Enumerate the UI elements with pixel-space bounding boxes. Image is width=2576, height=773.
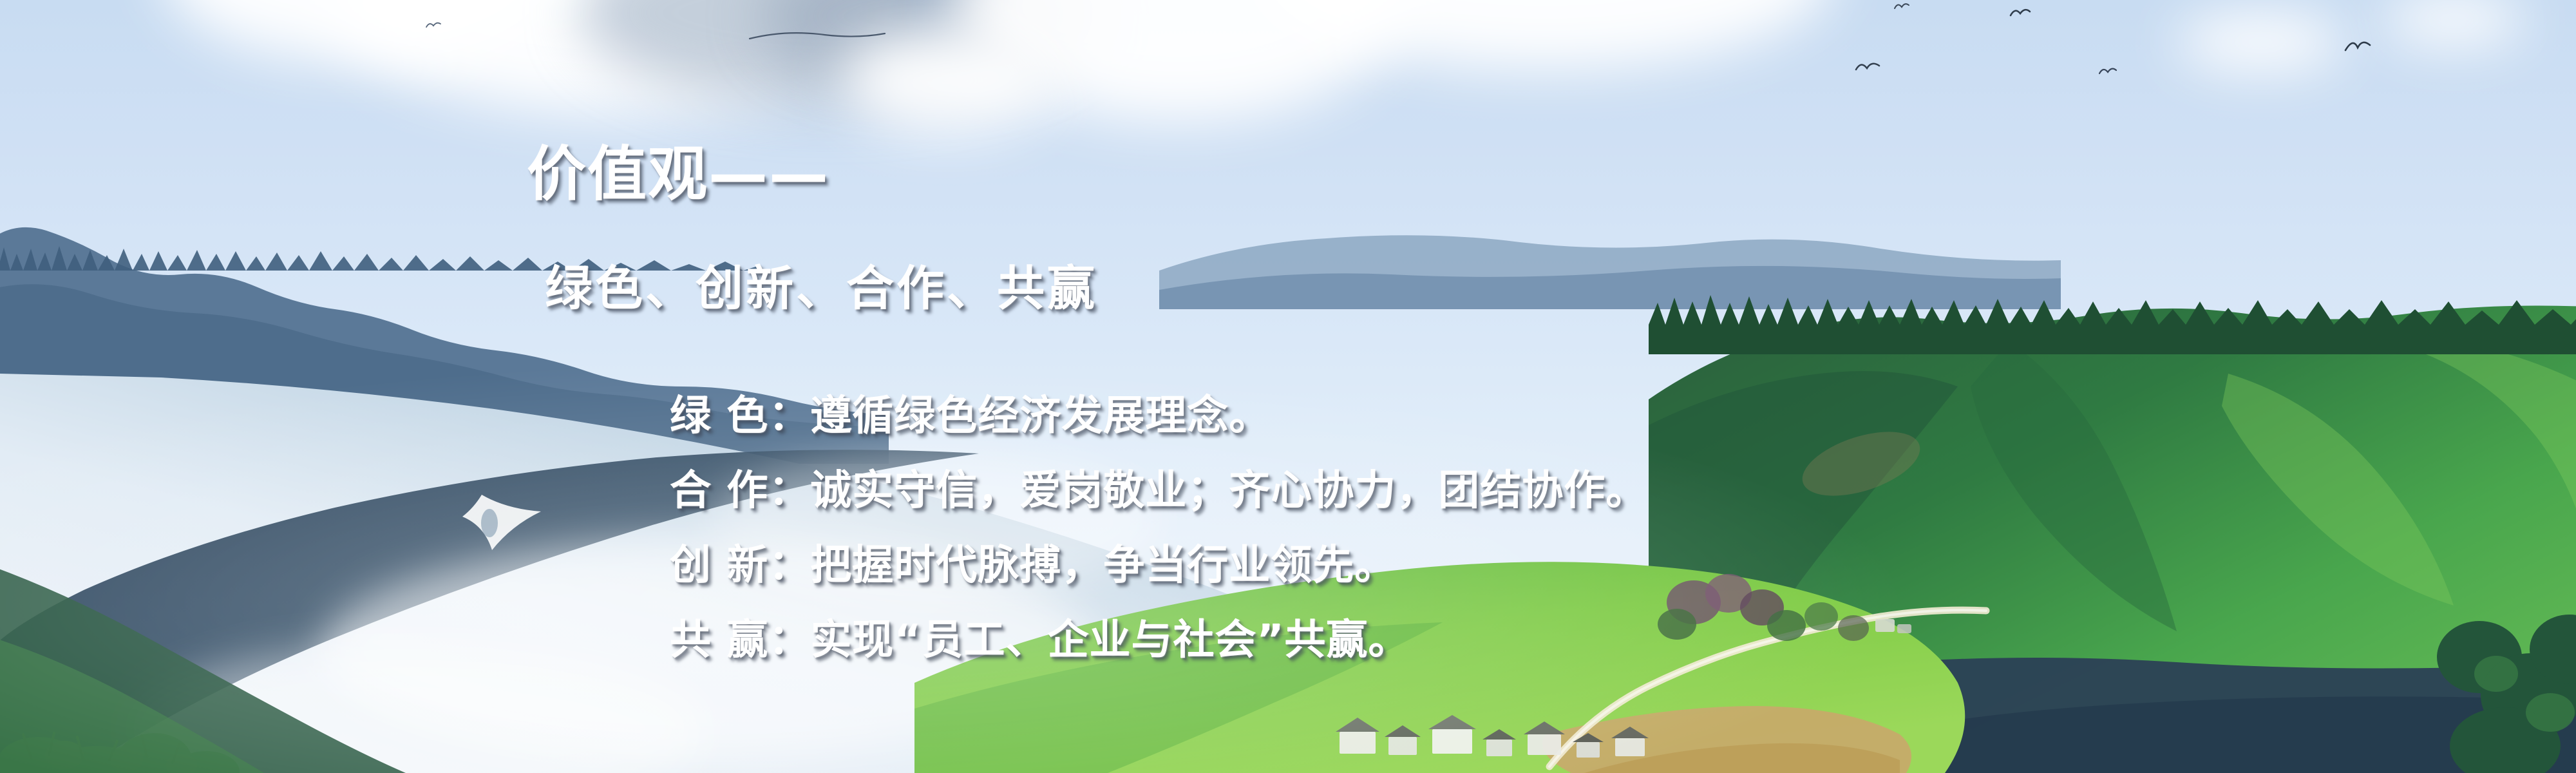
tree-cluster: [1649, 557, 1919, 673]
boat-wake: [444, 490, 573, 560]
value-line-innovation: 创 新：把握时代脉搏，争当行业领先。: [670, 532, 1396, 591]
bird-icon: [747, 19, 889, 45]
value-line-green: 绿 色：遵循绿色经济发展理念。: [670, 383, 1271, 442]
bird-icon: [425, 19, 442, 30]
right-treeline-silhouette: [1649, 283, 2576, 354]
values-subtitle: 绿色、创新、合作、共赢: [545, 250, 1097, 319]
bird-icon: [1893, 0, 1910, 12]
village-buildings: [1327, 702, 1713, 773]
right-edge-trees: [2434, 580, 2576, 773]
bird-icon: [2344, 36, 2371, 54]
value-line-cooperation: 合 作：诚实守信，爱岗敬业；齐心协力，团结协作。: [670, 457, 1647, 517]
bird-icon: [2098, 64, 2117, 77]
values-banner: 价值观—— 绿色、创新、合作、共赢 绿 色：遵循绿色经济发展理念。 合 作：诚实…: [0, 0, 2576, 773]
bird-icon: [1855, 58, 1880, 75]
left-bottom-forest: [0, 567, 573, 773]
page-title: 价值观——: [527, 126, 829, 212]
bird-icon: [2009, 5, 2031, 19]
value-line-winwin: 共 赢：实现“员工、企业与社会”共赢。: [670, 607, 1410, 666]
cloud-shape: [2177, 13, 2344, 71]
